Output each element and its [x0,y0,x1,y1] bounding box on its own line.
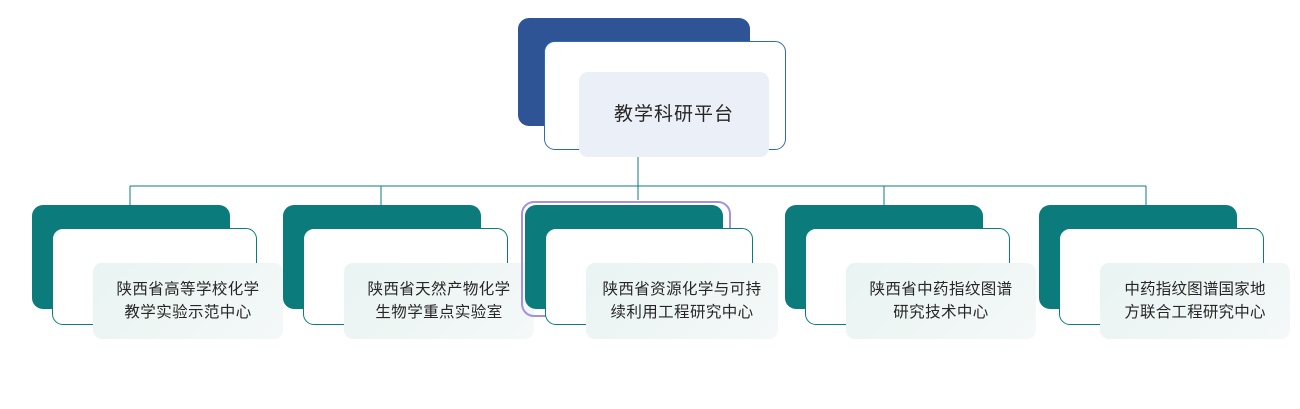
node-leaf-2-label: 陕西省天然产物化学 生物学重点实验室 [367,278,510,325]
node-leaf-1-label: 陕西省高等学校化学 教学实验示范中心 [116,278,259,325]
node-leaf-4-inner-panel: 陕西省中药指纹图谱 研究技术中心 [846,263,1036,339]
node-leaf-2-inner-panel: 陕西省天然产物化学 生物学重点实验室 [344,263,534,339]
node-leaf-1[interactable]: 陕西省高等学校化学 教学实验示范中心 [20,200,270,340]
node-root-box[interactable]: 教学科研平台 [544,41,786,150]
node-leaf-2[interactable]: 陕西省天然产物化学 生物学重点实验室 [271,200,521,340]
node-leaf-3[interactable]: 陕西省资源化学与可持 续利用工程研究中心 [513,200,763,340]
node-leaf-2-box[interactable]: 陕西省天然产物化学 生物学重点实验室 [303,228,508,325]
node-leaf-5-label: 中药指纹图谱国家地 方联合工程研究中心 [1124,278,1265,325]
node-leaf-4-box[interactable]: 陕西省中药指纹图谱 研究技术中心 [805,228,1010,325]
node-root-label: 教学科研平台 [614,100,734,129]
node-leaf-4[interactable]: 陕西省中药指纹图谱 研究技术中心 [773,200,1023,340]
node-leaf-4-label: 陕西省中药指纹图谱 研究技术中心 [869,278,1012,325]
node-leaf-5-box[interactable]: 中药指纹图谱国家地 方联合工程研究中心 [1059,228,1264,325]
node-leaf-1-box[interactable]: 陕西省高等学校化学 教学实验示范中心 [52,228,257,325]
node-leaf-3-label: 陕西省资源化学与可持 续利用工程研究中心 [602,278,761,325]
node-root[interactable]: 教学科研平台 [518,18,786,150]
node-leaf-5[interactable]: 中药指纹图谱国家地 方联合工程研究中心 [1027,200,1277,340]
node-root-inner-panel: 教学科研平台 [579,72,769,157]
node-leaf-3-inner-panel: 陕西省资源化学与可持 续利用工程研究中心 [586,263,778,339]
org-chart-canvas: 教学科研平台 陕西省高等学校化学 教学实验示范中心 陕西省天然产物化学 生物学重… [0,0,1300,409]
node-leaf-5-inner-panel: 中药指纹图谱国家地 方联合工程研究中心 [1100,263,1290,339]
node-leaf-3-box[interactable]: 陕西省资源化学与可持 续利用工程研究中心 [545,228,753,325]
node-leaf-1-inner-panel: 陕西省高等学校化学 教学实验示范中心 [93,263,283,339]
